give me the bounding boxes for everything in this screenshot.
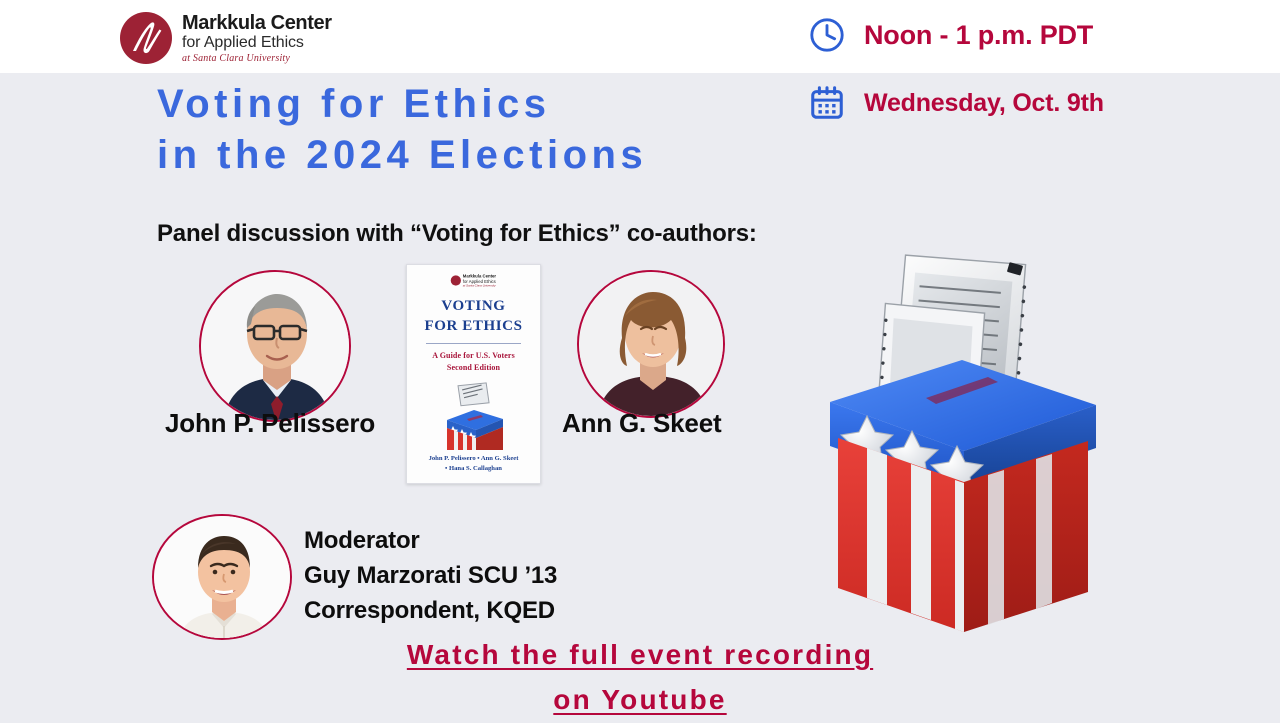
cta-line1[interactable]: Watch the full event recording [407,639,873,670]
book-authors-line2: • Hana S. Callaghan [429,464,519,475]
book-subtitle: A Guide for U.S. Voters Second Edition [432,350,515,374]
calendar-icon [808,84,846,122]
book-cover: Markkula Center for Applied Ethics at Sa… [406,264,541,484]
panel-subheading: Panel discussion with “Voting for Ethics… [157,220,757,248]
book-logo-line3: at Santa Clara University [463,284,496,288]
event-time-text: Noon - 1 p.m. PDT [864,20,1093,51]
panelist-name-1: John P. Pelissero [165,408,375,439]
logo-line3: at Santa Clara University [182,54,332,64]
book-logo-mark-icon [451,276,461,286]
panelist-name-2: Ann G. Skeet [562,408,721,439]
book-cover-art-ballot-box-icon [435,376,513,450]
event-date-row: Wednesday, Oct. 9th [808,84,1104,122]
page-title-line1: Voting for Ethics [157,79,647,130]
book-title-line2: FOR ETHICS [424,317,522,336]
avatar-guy-marzorati [152,514,292,640]
logo-line1: Markkula Center [182,13,332,33]
book-authors: John P. Pelissero • Ann G. Skeet • Hana … [429,454,519,477]
ballot-box-illustration [812,232,1112,642]
watch-recording-link[interactable]: Watch the full event recording on Youtub… [330,633,950,723]
moderator-role: Moderator [304,524,557,559]
moderator-affiliation: Correspondent, KQED [304,594,557,629]
markkula-center-logo: Markkula Center for Applied Ethics at Sa… [120,11,332,64]
book-title: VOTING FOR ETHICS [424,297,522,335]
book-authors-line1: John P. Pelissero • Ann G. Skeet [429,454,519,465]
page-title-line2: in the 2024 Elections [157,130,647,181]
page-title: Voting for Ethics in the 2024 Elections [157,79,647,181]
event-date-text: Wednesday, Oct. 9th [864,89,1104,118]
book-divider [426,343,520,344]
book-subtitle-line2: Second Edition [432,362,515,374]
cta-line2[interactable]: on Youtube [553,684,726,715]
avatar-john-pelissero [199,270,351,422]
book-title-line1: VOTING [424,297,522,316]
book-subtitle-line1: A Guide for U.S. Voters [432,350,515,362]
moderator-details: Moderator Guy Marzorati SCU ’13 Correspo… [304,524,557,628]
avatar-ann-skeet [577,270,725,418]
book-logo-line1: Markkula Center [463,274,496,279]
markkula-m-logo-icon [120,12,172,64]
moderator-name: Guy Marzorati SCU ’13 [304,559,557,594]
event-time-row: Noon - 1 p.m. PDT [808,16,1093,54]
clock-icon [808,16,846,54]
logo-line2: for Applied Ethics [182,35,332,51]
book-cover-logo: Markkula Center for Applied Ethics at Sa… [451,274,496,288]
